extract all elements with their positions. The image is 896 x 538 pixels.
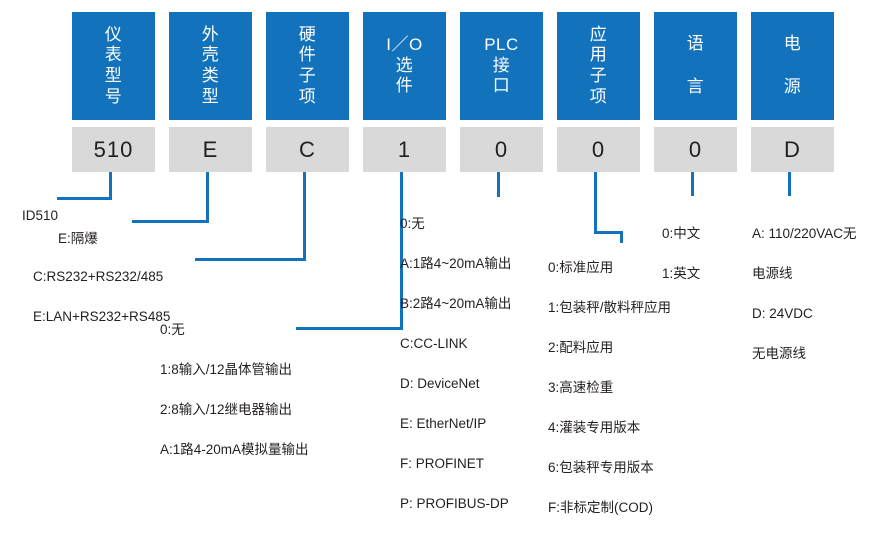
header-line: I／O	[386, 35, 422, 56]
column-power-header: 电 源	[751, 12, 834, 120]
header-line: 类	[202, 66, 220, 87]
header-line: 硬	[299, 25, 317, 46]
note-line: E:LAN+RS232+RS485	[33, 307, 170, 327]
column-io-option-value: 1	[363, 127, 446, 172]
note-line: 2:配料应用	[548, 338, 671, 358]
header-line: 选	[396, 56, 414, 77]
header-line: 接	[493, 56, 511, 77]
note-line: F:非标定制(COD)	[548, 498, 671, 518]
header-line: 件	[396, 76, 414, 97]
note-line: A:1路4-20mA模拟量输出	[160, 440, 309, 460]
header-line: 应	[590, 25, 608, 46]
header-line: 外	[202, 25, 220, 46]
note-io-option: 0:无 1:8输入/12晶体管输出 2:8输入/12继电器输出 A:1路4-20…	[160, 300, 309, 480]
note-line: 1:包装秤/散料秤应用	[548, 298, 671, 318]
column-enclosure-header: 外 壳 类 型	[169, 12, 252, 120]
model-code-diagram: 仪 表 型 号 510 外 壳 类 型 E 硬 件 子 项 C I／O 选 件	[0, 0, 896, 449]
note-line: 4:灌装专用版本	[548, 418, 671, 438]
note-line: C:CC-LINK	[400, 334, 511, 354]
column-plc-interface: PLC 接 口 0	[460, 12, 543, 172]
header-line: 项	[590, 87, 608, 108]
note-hardware-sub: C:RS232+RS232/485 E:LAN+RS232+RS485	[33, 247, 170, 347]
header-line: 表	[105, 45, 123, 66]
column-application-sub: 应 用 子 项 0	[557, 12, 640, 172]
header-line: 电	[784, 34, 802, 55]
header-line: 子	[299, 66, 317, 87]
column-application-sub-header: 应 用 子 项	[557, 12, 640, 120]
header-line: 子	[590, 66, 608, 87]
column-enclosure-value: E	[169, 127, 252, 172]
note-line: ID510	[22, 206, 58, 226]
column-power: 电 源 D	[751, 12, 834, 172]
header-line: 源	[784, 77, 802, 98]
note-line: 0:无	[400, 214, 511, 234]
header-line: 型	[202, 87, 220, 108]
note-power: A: 110/220VAC无 电源线 D: 24VDC 无电源线	[752, 204, 857, 384]
note-line: D: 24VDC	[752, 304, 857, 324]
note-model: ID510	[22, 186, 58, 246]
note-line: A:1路4~20mA输出	[400, 254, 511, 274]
note-line: D: DeviceNet	[400, 374, 511, 394]
column-hardware-sub: 硬 件 子 项 C	[266, 12, 349, 172]
column-plc-interface-value: 0	[460, 127, 543, 172]
note-application-sub: 0:标准应用 1:包装秤/散料秤应用 2:配料应用 3:高速检重 4:灌装专用版…	[548, 238, 671, 538]
header-line: 件	[299, 45, 317, 66]
header-line: PLC	[484, 35, 519, 56]
column-model-header: 仪 表 型 号	[72, 12, 155, 120]
note-line: F: PROFINET	[400, 454, 511, 474]
header-line: 语	[687, 34, 705, 55]
column-io-option-header: I／O 选 件	[363, 12, 446, 120]
column-enclosure: 外 壳 类 型 E	[169, 12, 252, 172]
column-model-value: 510	[72, 127, 155, 172]
column-plc-interface-header: PLC 接 口	[460, 12, 543, 120]
header-line: 口	[493, 76, 511, 97]
note-line: B:2路4~20mA输出	[400, 294, 511, 314]
column-hardware-sub-header: 硬 件 子 项	[266, 12, 349, 120]
header-line: 项	[299, 87, 317, 108]
note-line: 1:英文	[662, 264, 700, 284]
column-language: 语 言 0	[654, 12, 737, 172]
note-line: C:RS232+RS232/485	[33, 267, 170, 287]
note-line: 0:中文	[662, 224, 700, 244]
note-line: 0:标准应用	[548, 258, 671, 278]
column-hardware-sub-value: C	[266, 127, 349, 172]
column-power-value: D	[751, 127, 834, 172]
note-language: 0:中文 1:英文	[662, 204, 700, 304]
note-line: E: EtherNet/IP	[400, 414, 511, 434]
header-line: 号	[105, 87, 123, 108]
header-line: 用	[590, 45, 608, 66]
note-line: 0:无	[160, 320, 309, 340]
note-line: E:隔爆	[58, 229, 98, 249]
note-plc-interface: 0:无 A:1路4~20mA输出 B:2路4~20mA输出 C:CC-LINK …	[400, 194, 511, 533]
note-line: A: 110/220VAC无	[752, 224, 857, 244]
header-line: 型	[105, 66, 123, 87]
note-line: 2:8输入/12继电器输出	[160, 400, 309, 420]
column-language-value: 0	[654, 127, 737, 172]
column-application-sub-value: 0	[557, 127, 640, 172]
note-line: 1:8输入/12晶体管输出	[160, 360, 309, 380]
note-line: 无电源线	[752, 344, 857, 364]
header-line: 言	[687, 77, 705, 98]
header-line: 壳	[202, 45, 220, 66]
note-line: 电源线	[752, 264, 857, 284]
note-line: 3:高速检重	[548, 378, 671, 398]
header-line: 仪	[105, 25, 123, 46]
column-model: 仪 表 型 号 510	[72, 12, 155, 172]
note-line: 6:包装秤专用版本	[548, 458, 671, 478]
column-language-header: 语 言	[654, 12, 737, 120]
column-io-option: I／O 选 件 1	[363, 12, 446, 172]
note-line: P: PROFIBUS-DP	[400, 494, 511, 514]
